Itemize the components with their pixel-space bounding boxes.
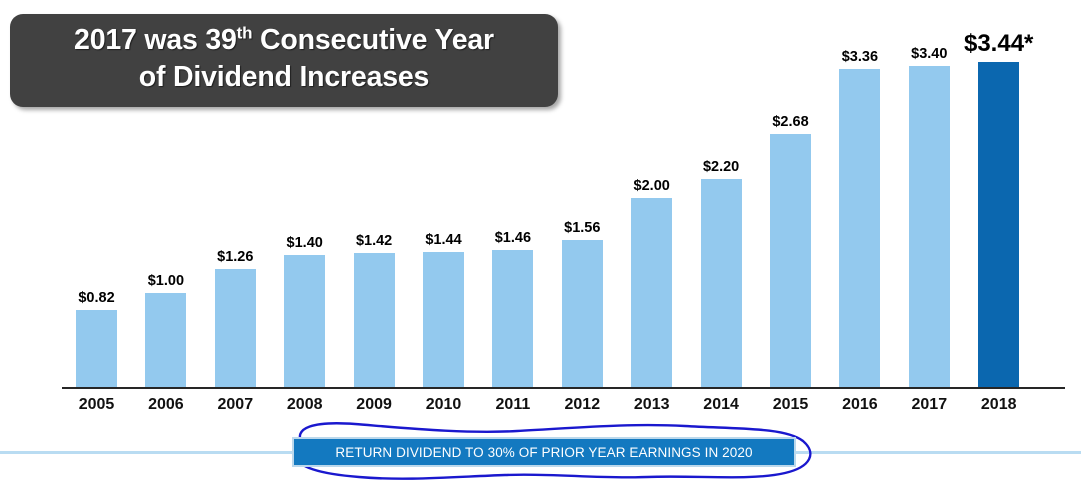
bar-value-label-2013: $2.00: [607, 178, 696, 194]
bar-2013[interactable]: [631, 198, 672, 388]
bar-group: $0.82: [62, 0, 131, 392]
bar-group: $1.40: [270, 0, 339, 392]
bar-group: $3.44*: [964, 0, 1033, 392]
bar-2008[interactable]: [284, 255, 325, 388]
bar-2006[interactable]: [145, 293, 186, 388]
bar-2016[interactable]: [839, 69, 880, 388]
return-dividend-banner: RETURN DIVIDEND TO 30% OF PRIOR YEAR EAR…: [292, 437, 796, 467]
bar-group: $1.56: [548, 0, 617, 392]
bar-group: $1.26: [201, 0, 270, 392]
bar-value-label-2014: $2.20: [677, 159, 766, 175]
bar-2009[interactable]: [354, 253, 395, 388]
bar-value-label-2005: $0.82: [52, 290, 141, 306]
bar-group: $1.44: [409, 0, 478, 392]
x-axis-labels: 2005200620072008200920102011201220132014…: [0, 396, 1081, 422]
bar-value-label-2006: $1.00: [121, 273, 210, 289]
bar-group: $1.46: [478, 0, 547, 392]
bar-2011[interactable]: [492, 250, 533, 388]
bar-2007[interactable]: [215, 269, 256, 388]
bar-value-label-2012: $1.56: [538, 220, 627, 236]
bar-2017[interactable]: [909, 66, 950, 388]
bar-2018[interactable]: [978, 62, 1019, 388]
banner-label: RETURN DIVIDEND TO 30% OF PRIOR YEAR EAR…: [335, 445, 752, 460]
bar-group: $1.00: [131, 0, 200, 392]
bar-2012[interactable]: [562, 240, 603, 388]
bar-chart-plot-area: $0.82$1.00$1.26$1.40$1.42$1.44$1.46$1.56…: [0, 0, 1081, 392]
bar-value-label-2015: $2.68: [746, 114, 835, 130]
x-axis-label-2018: 2018: [954, 396, 1043, 414]
bar-2010[interactable]: [423, 252, 464, 389]
dividend-increases-slide: 2017 was 39th Consecutive Year of Divide…: [0, 0, 1081, 483]
x-axis-line: [62, 387, 1065, 389]
bar-group: $2.20: [687, 0, 756, 392]
bar-group: $2.00: [617, 0, 686, 392]
bar-2005[interactable]: [76, 310, 117, 388]
bar-group: $1.42: [340, 0, 409, 392]
bar-value-label-2018: $3.44*: [944, 30, 1053, 58]
bar-group: $3.40: [895, 0, 964, 392]
bar-2015[interactable]: [770, 134, 811, 388]
bar-2014[interactable]: [701, 179, 742, 388]
